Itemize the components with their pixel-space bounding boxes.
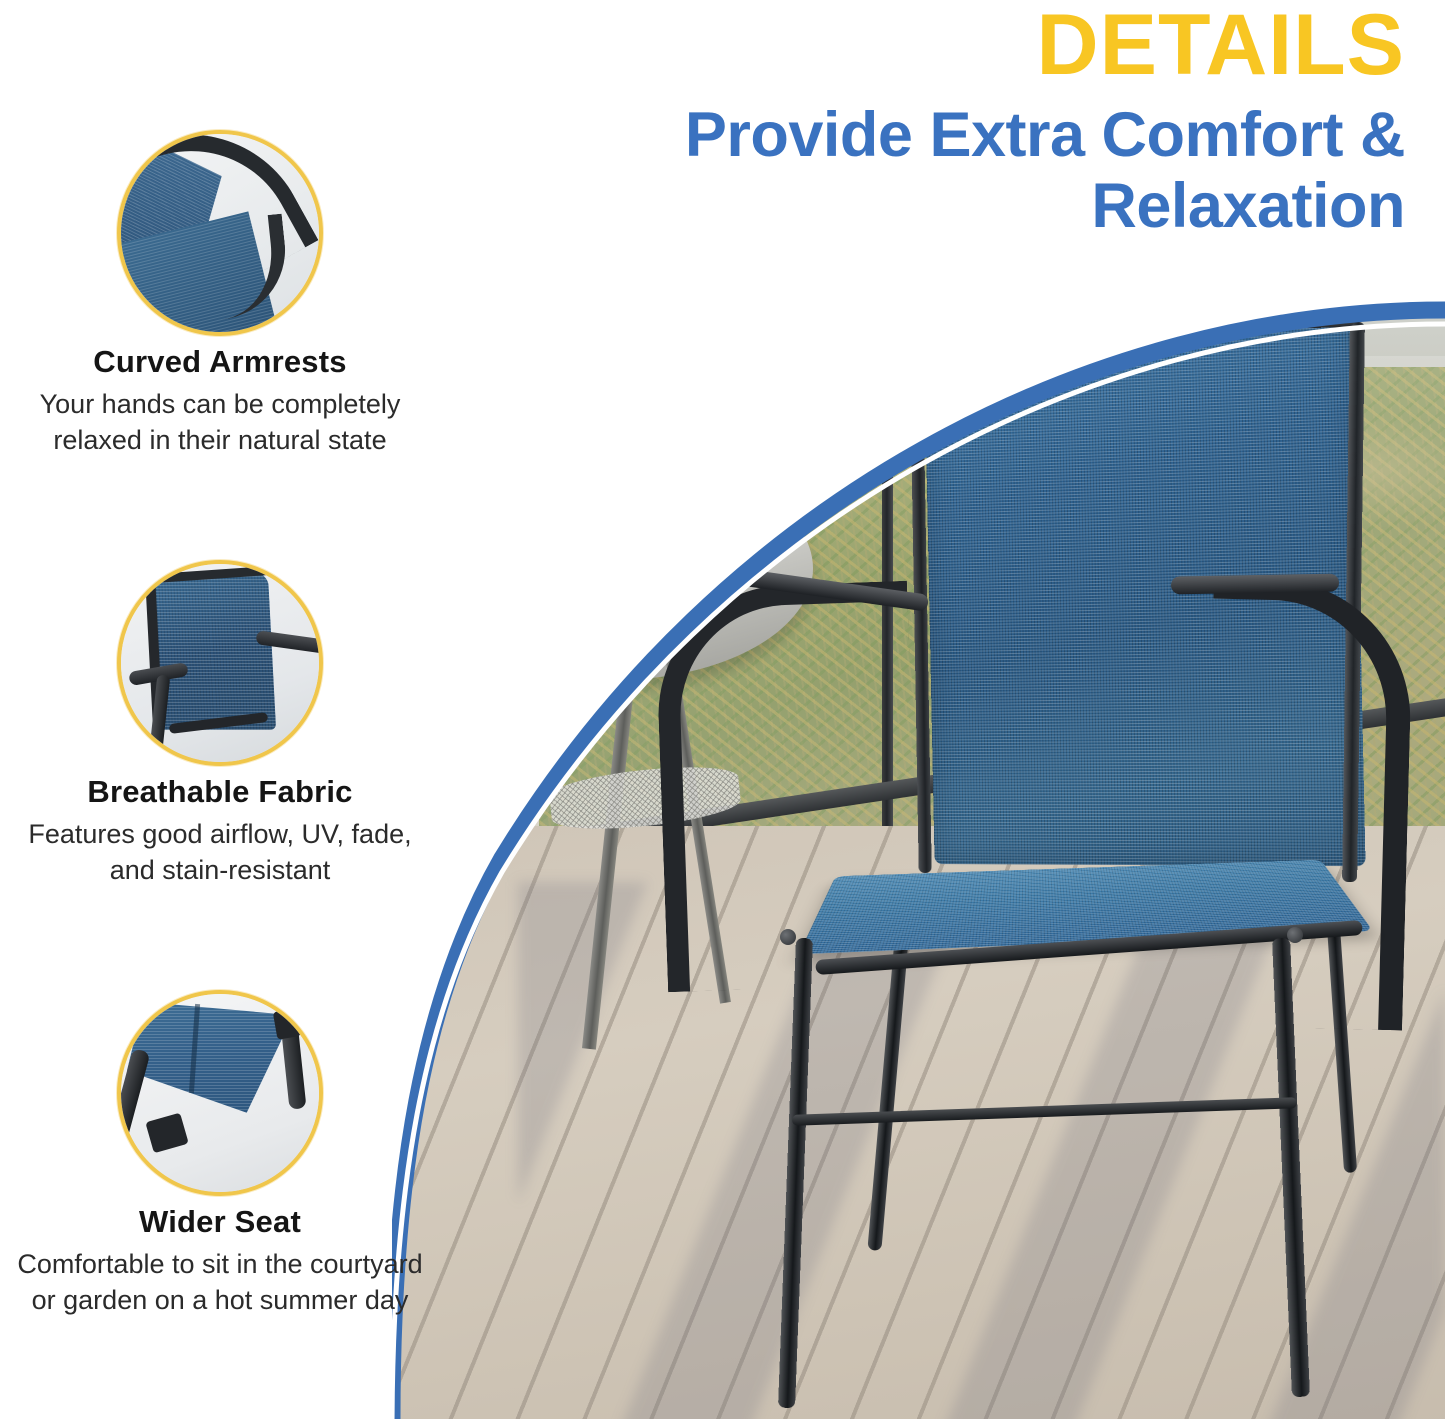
thumbnail-image-seat <box>121 994 319 1192</box>
chair-bolt-left <box>780 929 796 945</box>
feature-description-line-2: and stain-resistant <box>110 855 331 885</box>
thumbnail-image-chairback <box>121 564 319 762</box>
thumbnail-image-armrest <box>121 134 319 332</box>
feature-card-wider-seat: Wider Seat Comfortable to sit in the cou… <box>0 990 440 1318</box>
chair-armrest-right-curve <box>1202 577 1414 1030</box>
patio-chair <box>392 300 1445 1419</box>
feature-title: Curved Armrests <box>0 344 440 380</box>
feature-description: Comfortable to sit in the courtyard or g… <box>0 1246 440 1318</box>
page-title-line-2: Relaxation <box>560 171 1405 242</box>
photo-clip-mask <box>392 300 1445 1419</box>
feature-thumbnail-breathable-fabric <box>117 560 323 766</box>
photo-scene <box>392 300 1445 1419</box>
feature-description-line-1: Features good airflow, UV, fade, <box>28 819 411 849</box>
thumb-chair-back-mesh <box>148 572 275 730</box>
eyebrow-heading: DETAILS <box>560 0 1405 88</box>
feature-title: Wider Seat <box>0 1204 440 1240</box>
chair-bolt-right <box>1287 927 1303 943</box>
feature-card-curved-armrests: Curved Armrests Your hands can be comple… <box>0 130 440 458</box>
main-product-photo <box>392 300 1445 1419</box>
feature-description: Your hands can be completely relaxed in … <box>0 386 440 458</box>
feature-thumbnail-curved-armrests <box>117 130 323 336</box>
feature-title: Breathable Fabric <box>0 774 440 810</box>
chair-armrest-right-bar <box>1171 574 1340 595</box>
feature-description-line-1: Comfortable to sit in the courtyard <box>17 1249 422 1279</box>
open-magazine <box>470 469 693 596</box>
chair-leg-stretcher <box>792 1097 1298 1126</box>
page-title: Provide Extra Comfort & Relaxation <box>560 100 1405 241</box>
page-title-line-1: Provide Extra Comfort & <box>685 100 1405 170</box>
feature-card-breathable-fabric: Breathable Fabric Features good airflow,… <box>0 560 440 888</box>
feature-description-line-2: relaxed in their natural state <box>53 425 386 455</box>
chair-leg-front-left <box>778 938 813 1408</box>
page-header: DETAILS Provide Extra Comfort & Relaxati… <box>560 0 1405 241</box>
feature-description-line-2: or garden on a hot summer day <box>32 1285 409 1315</box>
feature-description-line-1: Your hands can be completely <box>40 389 401 419</box>
feature-thumbnail-wider-seat <box>117 990 323 1196</box>
feature-description: Features good airflow, UV, fade, and sta… <box>0 816 440 888</box>
